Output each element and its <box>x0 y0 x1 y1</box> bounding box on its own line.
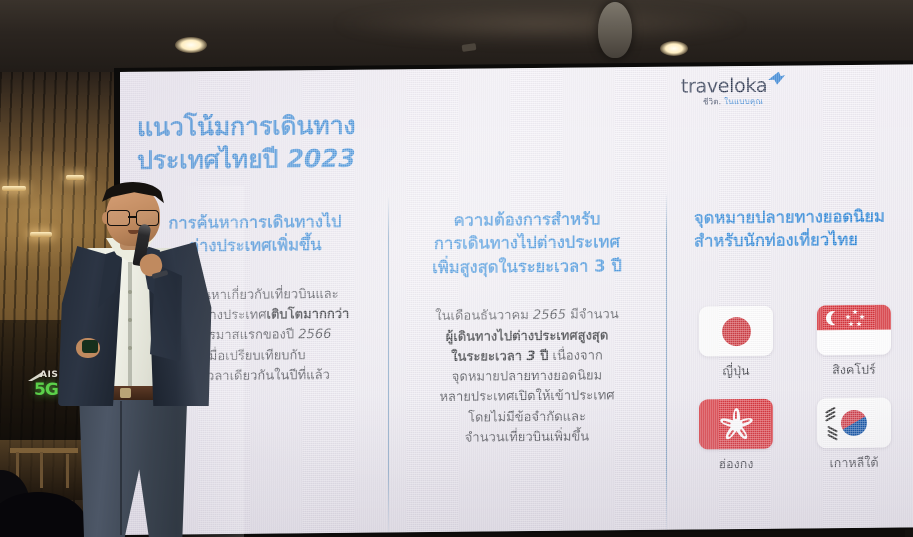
body-line: ผู้เดินทางไปต่างประเทศสูงสุด <box>398 325 656 348</box>
body-line: จุดหมายปลายทางยอดนิยม <box>398 366 656 389</box>
pendant-light <box>598 2 632 58</box>
speaker <box>44 186 244 537</box>
body-line: หลายประเทศเปิดให้เข้าประเทศ <box>398 386 656 409</box>
presentation-photo: AIS 5G traveloka ชีวิต. ในแบบคุณ แนวโน้ม… <box>0 0 913 537</box>
flag-row: ญี่ปุ่น <box>690 304 913 381</box>
ceiling-downlight <box>660 41 688 56</box>
flag-row: ฮ่องกง เกาหลีใต้ <box>690 397 913 474</box>
column-divider <box>666 195 667 530</box>
destination-flags: ญี่ปุ่น <box>690 304 913 492</box>
slide-title-year: 2023 <box>287 143 356 173</box>
slide-title: แนวโน้มการเดินทาง ประเทศไทยปี 2023 <box>137 109 467 177</box>
body-line: ในเดือนธันวาคม 2565 มีจำนวน <box>398 305 656 328</box>
southkorea-flag-icon <box>817 398 891 449</box>
singapore-flag-icon <box>817 305 891 356</box>
body-line: ในระยะเวลา 3 ปี เนื่องจาก <box>398 346 656 369</box>
wall-lamp <box>66 175 84 180</box>
flag-label: ฮ่องกง <box>690 454 782 475</box>
column-heading: ความต้องการสำหรับ การเดินทางไปต่างประเทศ… <box>398 207 656 280</box>
stars-icon <box>843 309 871 327</box>
wall-lamp <box>2 186 26 191</box>
belt-buckle <box>120 388 131 398</box>
taegeuk-icon <box>841 410 867 436</box>
column-heading-line1: จุดหมายปลายทางยอดนิยม <box>694 204 913 230</box>
tagline-prefix: ชีวิต. <box>703 97 721 106</box>
flag-item-southkorea: เกาหลีใต้ <box>808 398 900 474</box>
trouser-seam <box>120 401 122 535</box>
japan-flag-icon <box>699 306 773 357</box>
column-heading: จุดหมายปลายทางยอดนิยม สำหรับนักท่องเที่ย… <box>694 204 913 253</box>
flag-label: ญี่ปุ่น <box>690 361 782 382</box>
flag-item-hongkong: ฮ่องกง <box>690 399 782 475</box>
eyeglasses-icon <box>106 210 160 224</box>
tagline-suffix: ในแบบคุณ <box>724 97 763 106</box>
bauhinia-icon <box>719 407 753 441</box>
ceiling-downlight <box>175 37 207 53</box>
traveloka-logo: traveloka ชีวิต. ในแบบคุณ <box>668 74 798 108</box>
body-line: โดยไม่มีข้อจำกัดและ <box>398 406 656 429</box>
flag-item-japan: ญี่ปุ่น <box>690 306 782 382</box>
flag-label: สิงคโปร์ <box>808 360 900 381</box>
column-divider <box>388 197 389 532</box>
flag-label: เกาหลีใต้ <box>808 453 900 474</box>
body-line: จำนวนเที่ยวบินเพิ่มขึ้น <box>398 427 656 450</box>
japan-sun-disc <box>722 316 751 345</box>
column-heading-line2: สำหรับนักท่องเที่ยวไทย <box>694 228 913 254</box>
shirt-placket <box>128 262 132 390</box>
crescent-icon <box>826 311 840 325</box>
speaker-trousers <box>72 396 192 537</box>
ceiling-sheen <box>330 4 750 44</box>
slide-title-line1: แนวโน้มการเดินทาง <box>137 109 467 145</box>
column-demand-peak: ความต้องการสำหรับ การเดินทางไปต่างประเทศ… <box>398 207 656 450</box>
presentation-clicker-icon <box>82 340 98 353</box>
bird-icon <box>768 72 785 85</box>
slide-title-line2: ประเทศไทยปี 2023 <box>137 141 467 177</box>
hongkong-flag-icon <box>699 399 773 450</box>
chair-leg <box>40 452 43 488</box>
column-top-destinations: จุดหมายปลายทางยอดนิยม สำหรับนักท่องเที่ย… <box>676 204 913 253</box>
flag-item-singapore: สิงคโปร์ <box>808 305 900 381</box>
column-body: ในเดือนธันวาคม 2565 มีจำนวน ผู้เดินทางไป… <box>398 305 656 449</box>
